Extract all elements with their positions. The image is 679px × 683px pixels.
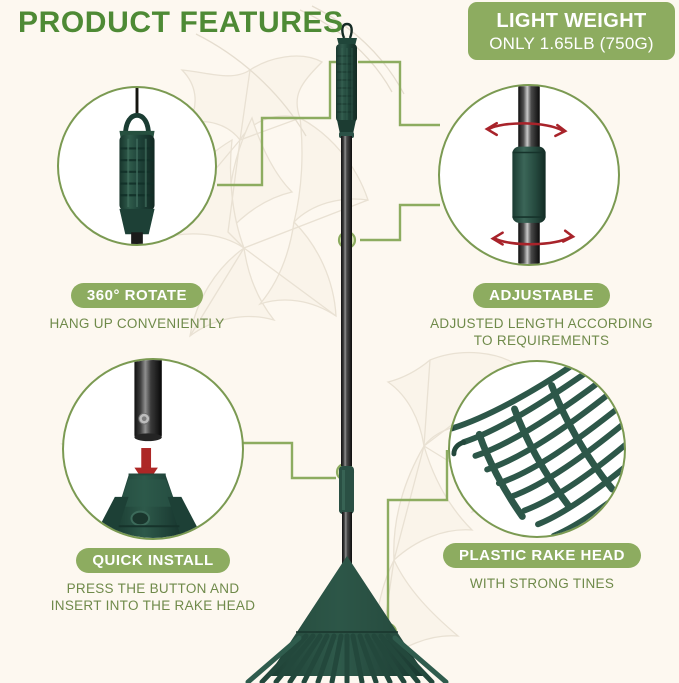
callout-label-rake-head: PLASTIC RAKE HEAD WITH STRONG TINES [414,543,670,592]
connector-adjustable-upper [360,62,438,118]
connector-dot-pole-upper [339,232,355,248]
pill-quick-install: QUICK INSTALL [76,548,229,573]
connector-dot-pole-lower [337,464,353,480]
connector-quick-install [243,443,332,475]
subtitle-rake-head: WITH STRONG TINES [470,575,614,592]
callout-circle-rotate [57,86,217,246]
light-weight-badge: LIGHT WEIGHT ONLY 1.65LB (750G) [468,2,675,60]
weight-badge-line1: LIGHT WEIGHT [496,10,646,33]
subtitle-adjustable: ADJUSTED LENGTH ACCORDING TO REQUIREMENT… [430,315,653,349]
connector-adjustable [352,100,438,160]
page-title: PRODUCT FEATURES [18,4,344,42]
connector-dot-rake-head [380,624,396,640]
connector-adjustable-path [358,62,440,125]
pill-rotate: 360° ROTATE [71,283,203,308]
quick-install-icon [64,360,242,538]
connector-rake-head-path [388,450,447,626]
connector-quick-install-path [243,443,336,478]
pill-adjustable: ADJUSTABLE [473,283,610,308]
connector-rotate [217,62,345,185]
rake-tines-icon [450,362,624,536]
infographic-canvas: 360° ROTATE HANG UP CONVENIENTLY [0,0,679,683]
adjustable-pole-icon [440,86,618,264]
callout-label-quick-install: QUICK INSTALL PRESS THE BUTTON AND INSER… [33,548,273,614]
handle-grip-icon [59,88,215,244]
callout-label-rotate: 360° ROTATE HANG UP CONVENIENTLY [37,283,237,332]
callout-circle-adjustable [438,84,620,266]
callout-circle-rake-head [448,360,626,538]
connector-dot-handle [338,54,354,70]
connector-mid-right [360,447,438,478]
connector-rake-head [387,452,455,625]
pill-rake-head: PLASTIC RAKE HEAD [443,543,641,568]
subtitle-quick-install: PRESS THE BUTTON AND INSERT INTO THE RAK… [51,580,256,614]
subtitle-rotate: HANG UP CONVENIENTLY [49,315,224,332]
weight-badge-line2: ONLY 1.65LB (750G) [489,33,654,54]
connector-pole-mid [360,205,440,240]
callout-label-adjustable: ADJUSTABLE ADJUSTED LENGTH ACCORDING TO … [414,283,669,349]
callout-circle-quick-install [62,358,244,540]
